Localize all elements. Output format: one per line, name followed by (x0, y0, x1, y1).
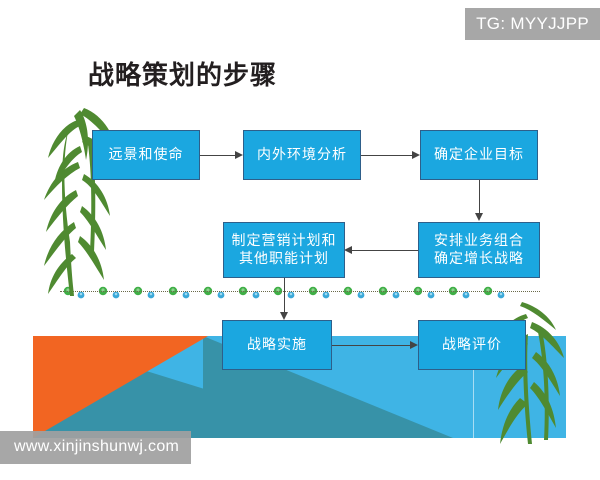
flow-box-analysis[interactable]: 内外环境分析 (243, 130, 361, 180)
arrowhead-down-icon (475, 213, 483, 221)
flow-box-line: 确定增长战略 (434, 250, 524, 268)
connector-analysis-to-goals (361, 155, 412, 156)
flow-box-line: 制定营销计划和 (232, 232, 337, 250)
flow-box-implementation[interactable]: 战略实施 (222, 320, 332, 370)
connector-implement-to-evaluate (332, 345, 410, 346)
flow-box-line: 安排业务组合 (434, 232, 524, 250)
flow-box-goals[interactable]: 确定企业目标 (420, 130, 538, 180)
flow-box-line: 确定企业目标 (434, 146, 524, 164)
connector-marketing-to-implement (284, 278, 285, 312)
flow-box-evaluation[interactable]: 战略评价 (418, 320, 526, 370)
flow-box-line: 内外环境分析 (257, 146, 347, 164)
flow-box-business-portfolio[interactable]: 安排业务组合 确定增长战略 (418, 222, 540, 278)
arrowhead-down-icon (280, 312, 288, 320)
flow-box-line: 远景和使命 (109, 146, 184, 164)
flow-box-line: 其他职能计划 (239, 250, 329, 268)
connector-goals-to-portfolio (479, 180, 480, 213)
divider-dotted-rule (60, 291, 540, 292)
arrowhead-right-icon (412, 151, 420, 159)
connector-vision-to-analysis (200, 155, 235, 156)
divider-beads-icon (60, 286, 540, 300)
telegram-watermark: TG: MYYJJPP (465, 8, 600, 40)
page-title: 战略策划的步骤 (88, 55, 277, 92)
flow-box-marketing-plan[interactable]: 制定营销计划和 其他职能计划 (223, 222, 345, 278)
connector-portfolio-to-marketing (352, 250, 418, 251)
beaded-divider-line (60, 286, 540, 300)
website-watermark: www.xinjinshunwj.com (0, 431, 191, 464)
arrowhead-right-icon (410, 341, 418, 349)
flow-box-line: 战略实施 (247, 336, 307, 354)
arrowhead-left-icon (344, 246, 352, 254)
arrowhead-right-icon (235, 151, 243, 159)
slide-canvas: 战略策划的步骤 远景和使命 内外环境分析 确定企业目标 制定营销计划和 其他职能… (0, 0, 600, 480)
flow-box-vision[interactable]: 远景和使命 (92, 130, 200, 180)
flow-box-line: 战略评价 (442, 336, 502, 354)
